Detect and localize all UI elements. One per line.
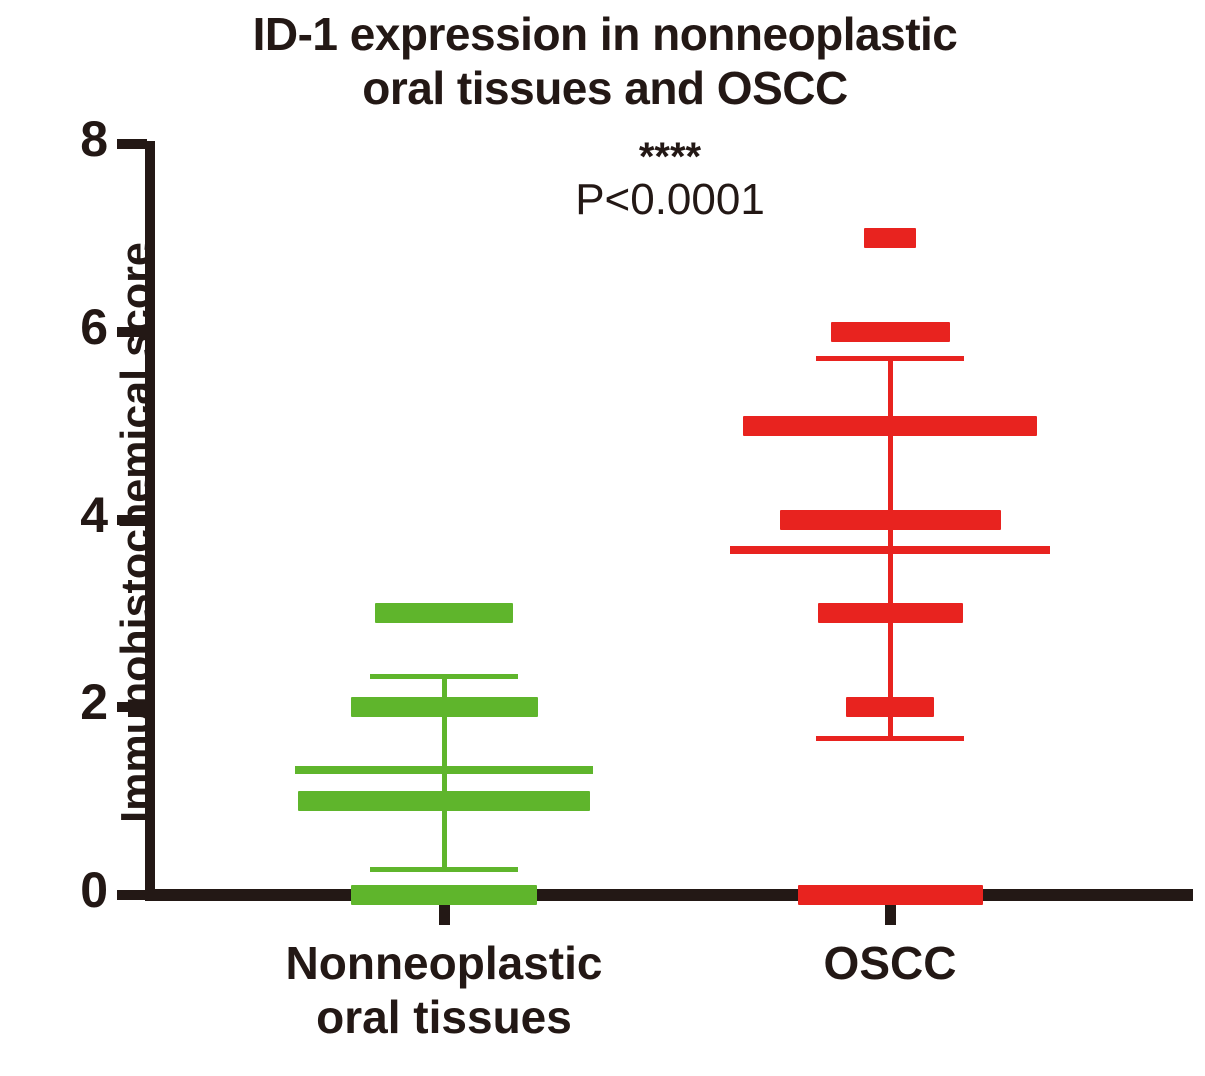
data-point-stack-oscc-score-5 xyxy=(743,416,1037,436)
y-axis-tick-2 xyxy=(117,702,147,712)
y-axis-tick-6 xyxy=(117,327,147,337)
x-axis-line xyxy=(145,889,1193,901)
data-point-stack-oscc-score-0 xyxy=(798,885,983,905)
data-point-stack-nonneoplastic-score-2 xyxy=(351,697,538,717)
data-point-stack-oscc-score-6 xyxy=(831,322,950,342)
mean-line-oscc xyxy=(730,546,1050,554)
x-axis-group-label-oscc: OSCC xyxy=(640,936,1140,990)
data-point-stack-oscc-score-7 xyxy=(864,228,916,248)
x-axis-group-label-nonneoplastic: Nonneoplastic oral tissues xyxy=(194,936,694,1045)
data-point-stack-oscc-score-2 xyxy=(846,697,934,717)
data-point-stack-nonneoplastic-score-3 xyxy=(375,603,513,623)
data-point-stack-nonneoplastic-score-1 xyxy=(298,791,590,811)
y-axis-tick-label-8: 8 xyxy=(18,114,108,164)
data-point-stack-nonneoplastic-score-0 xyxy=(351,885,537,905)
chart-figure: ID-1 expression in nonneoplastic oral ti… xyxy=(0,0,1205,1076)
y-axis-tick-8 xyxy=(117,139,147,149)
mean-line-nonneoplastic xyxy=(295,766,593,774)
error-bar-cap-upper-oscc xyxy=(816,356,964,361)
data-point-stack-oscc-score-4 xyxy=(780,510,1001,530)
error-bar-cap-lower-nonneoplastic xyxy=(370,867,518,872)
y-axis-tick-label-0: 0 xyxy=(18,865,108,915)
chart-title: ID-1 expression in nonneoplastic oral ti… xyxy=(170,8,1040,116)
y-axis-tick-4 xyxy=(117,515,147,525)
y-axis-tick-label-2: 2 xyxy=(18,677,108,727)
error-bar-cap-upper-nonneoplastic xyxy=(370,674,518,679)
y-axis-tick-label-6: 6 xyxy=(18,302,108,352)
significance-stars: **** xyxy=(520,137,820,177)
y-axis-tick-0 xyxy=(117,890,147,900)
data-point-stack-oscc-score-3 xyxy=(818,603,963,623)
y-axis-tick-label-4: 4 xyxy=(18,490,108,540)
error-bar-cap-lower-oscc xyxy=(816,736,964,741)
p-value-label: P<0.0001 xyxy=(520,178,820,222)
